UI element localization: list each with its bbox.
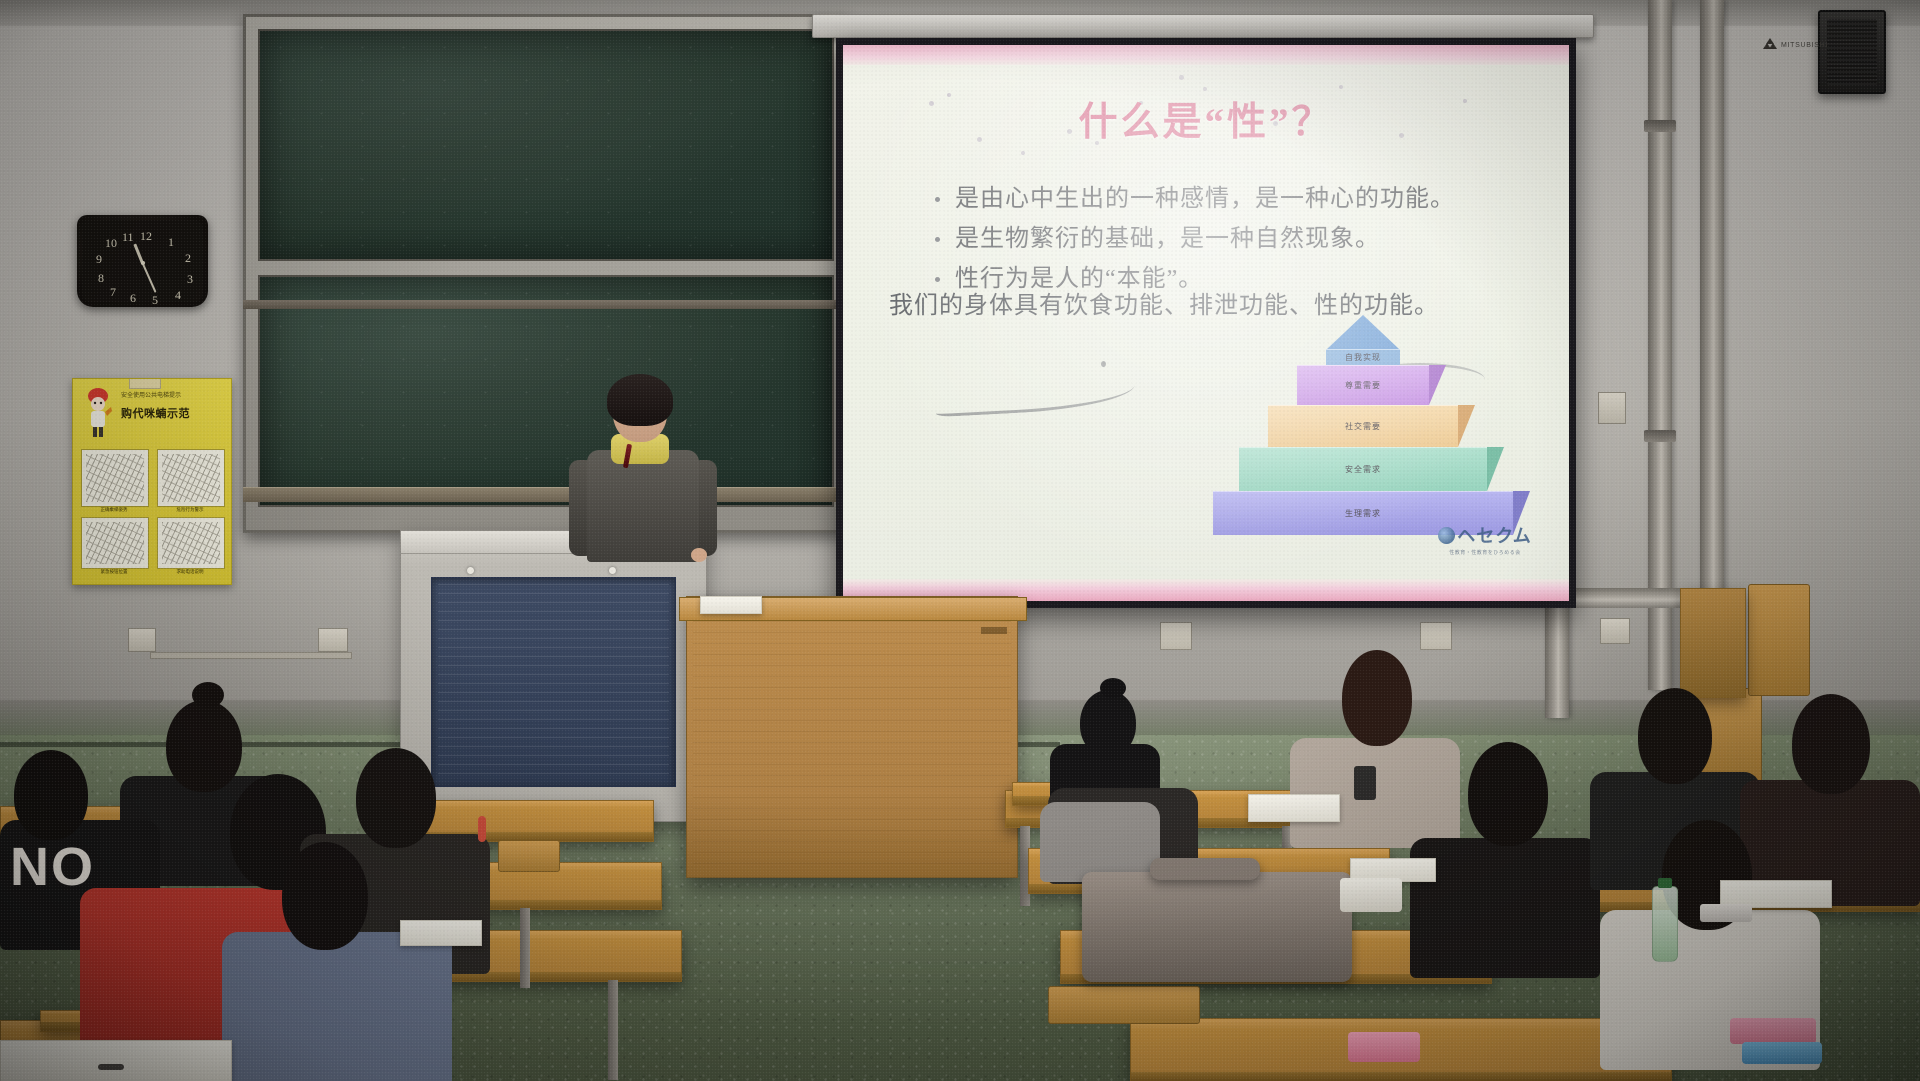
slide-handwritten-dot bbox=[1101, 361, 1106, 367]
safety-poster: 安全使用公共电梯提示 购代咪蝻示范 正确乘梯姿势 危险行为警示 紧急按钮位置 求… bbox=[72, 378, 232, 585]
student bbox=[1040, 746, 1160, 866]
podium-indicator-light bbox=[609, 567, 616, 574]
pen bbox=[478, 816, 486, 842]
pyramid-layer-label: 安全需求 bbox=[1345, 464, 1381, 475]
chair-back bbox=[1748, 584, 1810, 696]
student-head bbox=[1342, 650, 1412, 746]
wooden-lectern bbox=[686, 596, 1018, 878]
clock-numeral: 8 bbox=[98, 272, 104, 284]
mitsubishi-logo-icon bbox=[1763, 40, 1776, 51]
poster-mascot-icon bbox=[81, 387, 115, 439]
student-head bbox=[282, 842, 368, 950]
projector-brand: MITSUBISHI bbox=[1763, 40, 1828, 51]
student bbox=[222, 862, 452, 1081]
clock-numeral: 3 bbox=[187, 273, 193, 285]
clock-center-pin bbox=[141, 261, 145, 265]
lectern-label-plate bbox=[981, 627, 1007, 634]
poster-title: 购代咪蝻示范 bbox=[121, 405, 225, 421]
projection-screen-housing bbox=[812, 14, 1594, 38]
poster-illustration-cell bbox=[157, 517, 225, 569]
student-hair-bun bbox=[1100, 678, 1126, 698]
poster-cell-caption: 紧急按钮位置 bbox=[81, 569, 147, 575]
lecturer bbox=[565, 380, 725, 560]
classroom-photo: 12 1 2 3 4 5 6 7 8 9 10 11 bbox=[0, 0, 1920, 1081]
open-notebook bbox=[0, 1040, 232, 1081]
chalk-dust-texture bbox=[260, 277, 832, 505]
wall-pipe-right bbox=[1700, 0, 1724, 640]
shoulder-bag bbox=[1082, 872, 1352, 982]
student-torso bbox=[222, 932, 452, 1081]
poster-subtitle: 安全使用公共电梯提示 bbox=[121, 390, 225, 400]
projector-brand-label: MITSUBISHI bbox=[1781, 42, 1828, 49]
spare-wooden-chair bbox=[1680, 588, 1746, 698]
logo-wordmark: ヘセクム bbox=[1438, 522, 1532, 548]
clock-numeral: 11 bbox=[122, 231, 134, 243]
poster-cell-caption: 求助电话说明 bbox=[157, 569, 223, 575]
poster-illustration-cell bbox=[81, 517, 149, 569]
slide-bullet-item: 是生物繁衍的基础，是一种自然现象。 bbox=[929, 219, 1535, 259]
pencil-case bbox=[1742, 1042, 1822, 1064]
wall-outlet-f bbox=[1598, 392, 1626, 424]
pyramid-layer-side bbox=[1458, 405, 1475, 447]
student bbox=[1410, 742, 1600, 972]
bottle-cap bbox=[1658, 878, 1672, 888]
pyramid-layer-side bbox=[1487, 447, 1504, 491]
clock-numeral: 4 bbox=[175, 289, 181, 301]
poster-cell-caption: 危险行为警示 bbox=[157, 507, 223, 513]
logo-swirl-icon bbox=[1438, 527, 1455, 544]
wall-outlet-a bbox=[128, 628, 156, 652]
student-head bbox=[356, 748, 436, 848]
poster-illustration-cell bbox=[81, 449, 149, 507]
slide-confetti-dot bbox=[1179, 75, 1184, 80]
blackboard bbox=[243, 14, 847, 533]
clock-numeral: 5 bbox=[152, 294, 158, 306]
lecturer-hand bbox=[691, 548, 707, 562]
pyramid-layer-label: 生理需求 bbox=[1345, 508, 1381, 519]
logo-text: ヘセクム bbox=[1457, 522, 1532, 548]
student-head bbox=[1468, 742, 1548, 846]
clock-numeral: 7 bbox=[110, 286, 116, 298]
logo-tagline: 性教育・性教育をひろめる会 bbox=[1449, 549, 1521, 556]
clock-numeral: 12 bbox=[140, 230, 152, 242]
poster-tape bbox=[129, 378, 161, 389]
smartphone bbox=[1354, 766, 1376, 800]
pencil-case bbox=[1730, 1018, 1816, 1044]
student-head bbox=[1792, 694, 1870, 794]
student-hair-bun bbox=[192, 682, 224, 708]
open-notebook bbox=[400, 920, 482, 946]
shoulder-bag-strap bbox=[1150, 858, 1260, 880]
student-torso bbox=[1040, 802, 1160, 882]
poster-illustration-cell bbox=[157, 449, 225, 507]
student-torso bbox=[1410, 838, 1600, 978]
wall-clock: 12 1 2 3 4 5 6 7 8 9 10 11 bbox=[77, 215, 208, 307]
pyramid-layer-face: 社交需要 bbox=[1268, 405, 1458, 447]
poster-cell-caption: 正确乘梯姿势 bbox=[81, 507, 147, 513]
blackboard-panel-upper bbox=[258, 29, 834, 261]
pyramid-layer-label: 自我实现 bbox=[1345, 352, 1381, 363]
slide-confetti-dot bbox=[1021, 151, 1025, 155]
pen bbox=[98, 1064, 124, 1070]
pyramid-layer-face: 安全需求 bbox=[1239, 447, 1487, 491]
pyramid-layer-label: 尊重需要 bbox=[1345, 380, 1381, 391]
slide-handwritten-stroke bbox=[934, 370, 1136, 417]
lectern-wood-grain bbox=[693, 621, 1011, 871]
wall-outlet-d bbox=[1420, 622, 1452, 650]
desk-leg bbox=[520, 908, 530, 988]
clock-numeral: 1 bbox=[168, 236, 174, 248]
clock-minute-hand bbox=[142, 263, 156, 292]
wall-outlet-b bbox=[318, 628, 348, 652]
clock-numeral: 6 bbox=[130, 292, 136, 304]
pyramid-layer: 安全需求 bbox=[1239, 447, 1487, 491]
chalk-tray bbox=[243, 487, 841, 502]
wall-outlet-c bbox=[1160, 622, 1192, 650]
chalk-dust-texture bbox=[260, 31, 832, 259]
pyramid-apex bbox=[1327, 315, 1399, 349]
pyramid-layer-label: 社交需要 bbox=[1345, 421, 1381, 432]
clock-numeral: 2 bbox=[185, 252, 191, 264]
pyramid-layer: 社交需要 bbox=[1268, 405, 1458, 447]
blackboard-middle-rail bbox=[243, 300, 841, 309]
student-head bbox=[1638, 688, 1712, 784]
student-head bbox=[14, 750, 88, 840]
projection-screen: 什么是“性”？ 是由心中生出的一种感情，是一种心的功能。 是生物繁衍的基础，是一… bbox=[836, 38, 1576, 608]
blackboard-panel-lower bbox=[258, 275, 834, 507]
wall-speaker bbox=[1818, 10, 1886, 94]
wall-outlet-e bbox=[1600, 618, 1630, 644]
lecturer-torso bbox=[587, 450, 699, 562]
chair-back bbox=[1048, 986, 1200, 1024]
open-notebook bbox=[1248, 794, 1340, 822]
slide-title: 什么是“性”？ bbox=[843, 91, 1569, 147]
slide-bullet-list: 是由心中生出的一种感情，是一种心的功能。 是生物繁衍的基础，是一种自然现象。 性… bbox=[889, 179, 1535, 299]
smartphone bbox=[1700, 904, 1752, 922]
pyramid-layer-face: 自我实现 bbox=[1326, 349, 1400, 365]
pyramid-layer: 自我实现 bbox=[1326, 349, 1400, 365]
pyramid-layer-face: 尊重需要 bbox=[1297, 365, 1429, 405]
slide-confetti-dot bbox=[1339, 85, 1343, 89]
maslow-pyramid: 自我实现 尊重需要 社交需要 bbox=[1213, 315, 1513, 545]
podium-indicator-light bbox=[467, 567, 474, 574]
wall-conduit-cable bbox=[150, 652, 352, 659]
slide-canvas: 什么是“性”？ 是由心中生出的一种感情，是一种心的功能。 是生物繁衍的基础，是一… bbox=[843, 45, 1569, 601]
lectern-papers bbox=[700, 596, 762, 614]
lecturer-hair bbox=[607, 374, 673, 426]
desk-leg bbox=[608, 980, 618, 1080]
clock-face: 12 1 2 3 4 5 6 7 8 9 10 11 bbox=[82, 220, 203, 302]
clock-numeral: 9 bbox=[96, 253, 102, 265]
pyramid-layer-side bbox=[1429, 365, 1446, 405]
pencil-case bbox=[1348, 1032, 1420, 1062]
slide-top-band bbox=[843, 45, 1569, 65]
water-bottle bbox=[1652, 886, 1678, 962]
tissue-pack bbox=[1340, 878, 1402, 912]
pyramid-layer: 尊重需要 bbox=[1297, 365, 1429, 405]
slide-organization-logo: ヘセクム 性教育・性教育をひろめる会 bbox=[1423, 519, 1547, 559]
student-head bbox=[166, 700, 242, 792]
wall-pipe-left bbox=[1648, 0, 1672, 690]
clock-numeral: 10 bbox=[105, 237, 117, 249]
slide-bullet-item: 是由心中生出的一种感情，是一种心的功能。 bbox=[929, 179, 1535, 219]
chair-back bbox=[498, 840, 560, 872]
